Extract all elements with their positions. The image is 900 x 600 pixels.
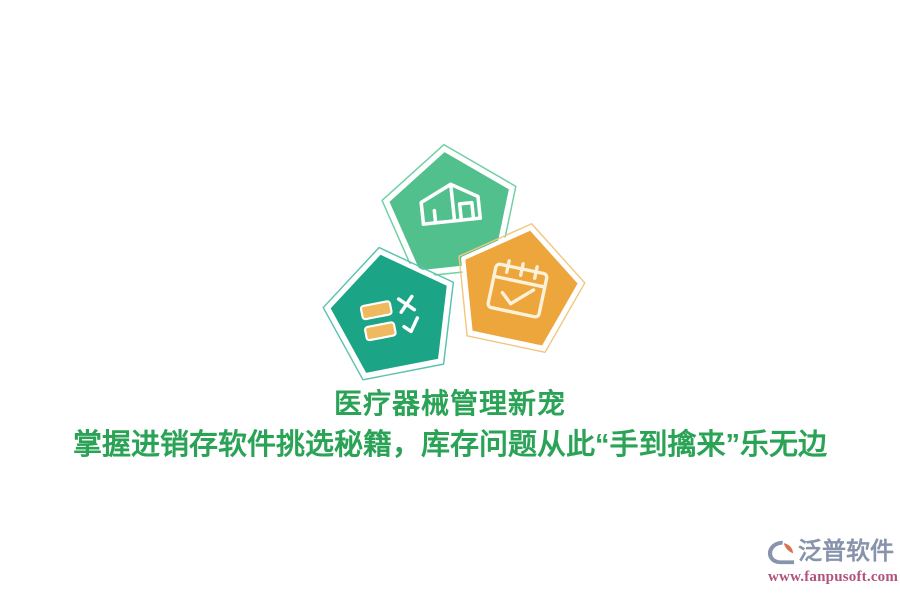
- headline-line-2: 掌握进销存软件挑选秘籍，库存问题从此“手到擒来”乐无边: [0, 423, 900, 467]
- watermark-top-row: 泛普软件: [766, 537, 894, 567]
- headline-block: 医疗器械管理新宠 掌握进销存软件挑选秘籍，库存问题从此“手到擒来”乐无边: [0, 385, 900, 467]
- watermark-brand-text: 泛普软件: [798, 538, 894, 566]
- headline-line-1: 医疗器械管理新宠: [0, 385, 900, 423]
- pentagon-checklist: [313, 235, 470, 392]
- pentagon-shape-schedule: [448, 216, 589, 353]
- poster-canvas: 医疗器械管理新宠 掌握进销存软件挑选秘籍，库存问题从此“手到擒来”乐无边 泛普软…: [0, 0, 900, 600]
- pentagon-cluster-graphic: [325, 145, 575, 380]
- fanpu-swoosh-logo-icon: [766, 538, 796, 566]
- watermark-logo: 泛普软件 www.fanpusoft.com: [766, 537, 894, 587]
- watermark-url: www.fanpusoft.com: [768, 568, 898, 586]
